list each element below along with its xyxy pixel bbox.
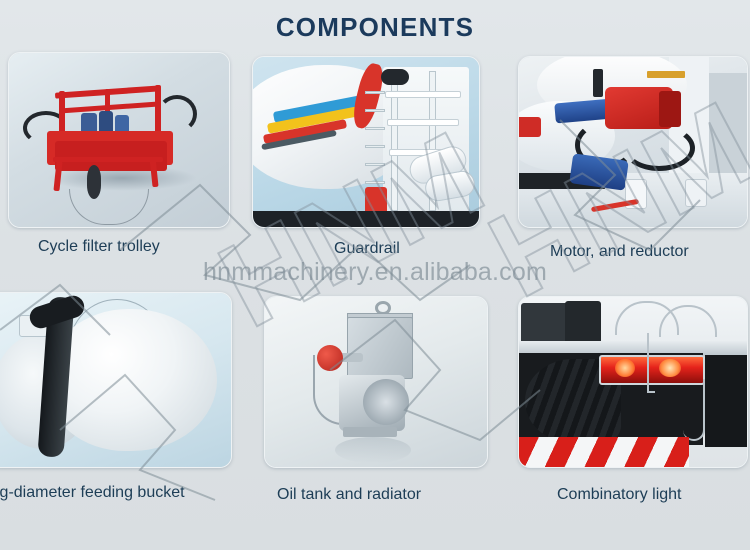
motor-hose-right [623, 125, 695, 171]
motor-nameplate [647, 71, 685, 78]
wire-hook-c [647, 333, 655, 393]
trolley-rail [53, 157, 163, 162]
caption-combinatory-light: Combinatory light [557, 486, 682, 504]
hydraulic-motor-red-side [659, 91, 681, 127]
tank-base [343, 427, 397, 437]
caption-oil-tank-and-radiator: Oil tank and radiator [277, 486, 421, 504]
component-image-guardrail[interactable] [252, 56, 480, 228]
feeding-bucket-shell [47, 309, 217, 451]
deck-cylinder-b [685, 179, 707, 207]
photo-combinatory-light [519, 297, 747, 467]
radiator-fan [363, 379, 409, 425]
caption-motor-and-reductor: Motor, and reductor [550, 243, 689, 261]
components-gallery-page: COMPONENTS Cycle filter trolley [0, 0, 750, 550]
drum-dark-cap [381, 69, 409, 85]
rear-panel-dark [705, 355, 748, 447]
mount-bracket-right [565, 301, 601, 345]
component-image-combinatory-light[interactable] [518, 296, 748, 468]
photo-guardrail [253, 57, 479, 227]
tail-light-glow-a [615, 359, 635, 377]
component-image-feeding-bucket[interactable] [0, 292, 232, 468]
photo-oil-tank-and-radiator [265, 297, 487, 467]
photo-motor-and-reductor [519, 57, 747, 227]
page-title: COMPONENTS [0, 12, 750, 43]
chassis-bar [253, 211, 480, 228]
floor-reflection [335, 437, 411, 463]
hydraulic-hose-right [157, 95, 197, 133]
caption-cycle-filter-trolley: Cycle filter trolley [38, 238, 160, 256]
caption-feeding-bucket: ig-diameter feeding bucket [0, 484, 185, 502]
watermark-url-text: hnmmachinery.en.alibaba.com [0, 258, 750, 287]
red-valve [317, 345, 343, 371]
caption-guardrail: Guardrail [334, 240, 400, 258]
trolley-cable [69, 189, 149, 225]
photo-cycle-filter-trolley [9, 53, 229, 227]
oil-tank-body [347, 317, 413, 379]
guardrail-bar-middle [387, 119, 459, 126]
tail-light-glow-b [659, 359, 681, 377]
wire-hook-d [683, 379, 705, 441]
component-image-oil-tank-and-radiator[interactable] [264, 296, 488, 468]
hazard-stripe-bumper [519, 437, 689, 468]
guardrail-bar-top [385, 91, 461, 98]
exhaust-stack [593, 69, 603, 97]
component-image-motor-and-reductor[interactable] [518, 56, 748, 228]
component-image-cycle-filter-trolley[interactable] [8, 52, 230, 228]
truck-wall-dark [709, 73, 748, 173]
photo-feeding-bucket [0, 293, 231, 467]
red-fitting-small [518, 117, 541, 137]
